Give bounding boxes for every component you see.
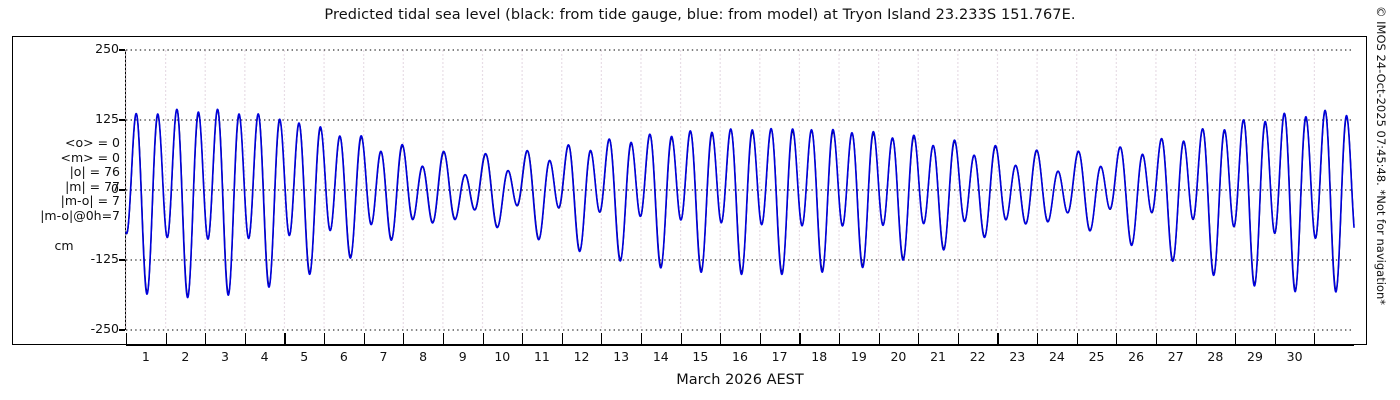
x-tick-label: 10 [485, 349, 519, 364]
x-tick-mark [720, 333, 721, 345]
x-tick-mark [760, 333, 761, 345]
tidal-chart-figure: Predicted tidal sea level (black: from t… [0, 0, 1400, 400]
x-tick-mark [1314, 333, 1315, 345]
x-tick-mark [166, 333, 167, 345]
statistic-line: |m-o|@0h=7 [8, 209, 120, 224]
y-tick-label: 125 [59, 111, 119, 126]
x-tick-mark [1077, 333, 1078, 345]
x-tick-mark [522, 333, 523, 345]
x-tick-label: 4 [248, 349, 282, 364]
page-title: Predicted tidal sea level (black: from t… [0, 7, 1400, 23]
y-tick-label: -125 [59, 251, 119, 266]
x-tick-label: 21 [921, 349, 955, 364]
x-axis-title: March 2026 AEST [126, 372, 1354, 388]
x-tick-label: 13 [604, 349, 638, 364]
plot-area [126, 50, 1354, 330]
x-tick-label: 12 [565, 349, 599, 364]
x-tick-label: 24 [1040, 349, 1074, 364]
x-tick-mark [364, 333, 365, 345]
y-tick-mark [119, 49, 125, 50]
statistics-block: <o> = 0<m> = 0|o| = 76|m| = 77|m-o| = 7|… [8, 136, 120, 224]
x-tick-mark [918, 333, 919, 345]
x-tick-mark [443, 333, 444, 345]
statistic-line: |m-o| = 7 [8, 194, 120, 209]
horizontal-gridlines [126, 50, 1354, 330]
x-tick-label: 23 [1000, 349, 1034, 364]
x-tick-mark [324, 333, 325, 345]
statistic-line: |o| = 76 [8, 165, 120, 180]
x-tick-label: 9 [446, 349, 480, 364]
x-tick-mark [1156, 333, 1157, 345]
x-tick-mark [1196, 333, 1197, 345]
x-tick-mark [799, 333, 800, 345]
x-tick-mark [839, 333, 840, 345]
x-tick-mark [1235, 333, 1236, 345]
x-tick-label: 16 [723, 349, 757, 364]
y-tick-mark [119, 189, 125, 190]
x-tick-label: 25 [1080, 349, 1114, 364]
x-tick-label: 2 [168, 349, 202, 364]
x-tick-mark [403, 333, 404, 345]
x-tick-mark [601, 333, 602, 345]
x-tick-label: 26 [1119, 349, 1153, 364]
model-series-line [126, 109, 1354, 297]
x-tick-label: 7 [366, 349, 400, 364]
y-tick-label: 250 [59, 41, 119, 56]
x-tick-label: 29 [1238, 349, 1272, 364]
x-tick-label: 17 [763, 349, 797, 364]
copyright-notice: © IMOS 24-Oct-2025 07:45:48. *Not for na… [1368, 6, 1388, 346]
x-tick-mark [1116, 333, 1117, 345]
x-tick-mark [483, 333, 484, 345]
x-tick-label: 8 [406, 349, 440, 364]
x-tick-mark [562, 333, 563, 345]
y-tick-mark [119, 259, 125, 260]
x-tick-mark [126, 333, 127, 345]
x-tick-mark [1037, 333, 1038, 345]
x-tick-label: 15 [683, 349, 717, 364]
x-tick-mark [681, 333, 682, 345]
y-tick-label: -250 [59, 321, 119, 336]
y-tick-mark [119, 329, 125, 330]
x-tick-label: 1 [129, 349, 163, 364]
x-tick-mark [958, 333, 959, 345]
x-tick-mark [1275, 333, 1276, 345]
x-tick-label: 30 [1278, 349, 1312, 364]
x-tick-label: 6 [327, 349, 361, 364]
x-tick-label: 28 [1198, 349, 1232, 364]
tide-series-svg [126, 50, 1354, 330]
x-tick-mark [997, 333, 998, 345]
x-tick-mark [879, 333, 880, 345]
statistic-line: <o> = 0 [8, 136, 120, 151]
x-tick-label: 27 [1159, 349, 1193, 364]
y-tick-mark [119, 119, 125, 120]
x-tick-label: 3 [208, 349, 242, 364]
copyright-text: © IMOS 24-Oct-2025 07:45:48. *Not for na… [1374, 6, 1388, 305]
statistic-line: <m> = 0 [8, 151, 120, 166]
x-tick-label: 18 [802, 349, 836, 364]
x-tick-label: 20 [881, 349, 915, 364]
x-tick-mark [205, 333, 206, 345]
x-tick-label: 22 [961, 349, 995, 364]
x-tick-mark [284, 333, 285, 345]
x-axis-spine [126, 345, 1354, 346]
x-tick-label: 19 [842, 349, 876, 364]
x-tick-label: 14 [644, 349, 678, 364]
x-tick-label: 5 [287, 349, 321, 364]
x-tick-mark [245, 333, 246, 345]
y-tick-label: 0 [59, 181, 119, 196]
x-tick-label: 11 [525, 349, 559, 364]
x-tick-mark [641, 333, 642, 345]
